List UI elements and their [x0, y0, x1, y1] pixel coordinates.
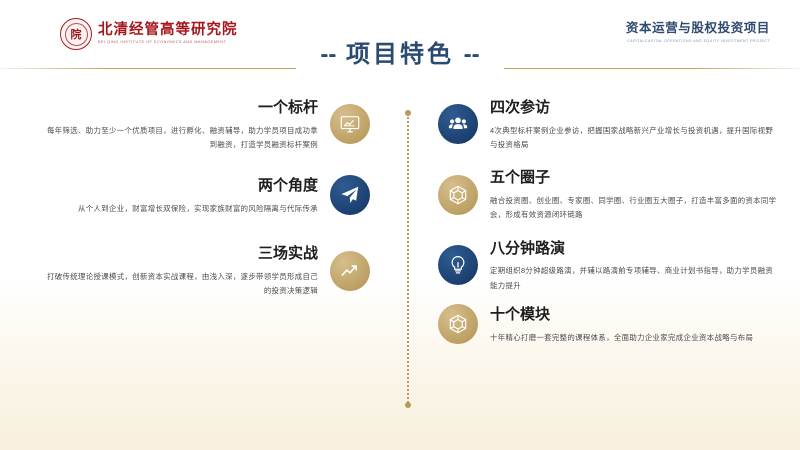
feature-heading: 八分钟路演 [490, 237, 778, 260]
feature-item: 八分钟路演 定期组织8分钟超级路演，并辅以路演前专项辅导、商业计划书指导，助力学… [438, 237, 778, 293]
center-dotted-divider [407, 113, 409, 405]
feature-text: 八分钟路演 定期组织8分钟超级路演，并辅以路演前专项辅导、商业计划书指导，助力学… [478, 237, 778, 293]
feature-column-left: 一个标杆 每年筛选、助力至少一个优质项目，进行孵化、融资辅导，助力学员项目成功拿… [40, 96, 370, 310]
title-text: 项目特色 [346, 41, 454, 68]
people-group-icon [438, 104, 478, 144]
feature-item: 一个标杆 每年筛选、助力至少一个优质项目，进行孵化、融资辅导，助力学员项目成功拿… [40, 96, 370, 152]
feature-column-right: 四次参访 4次典型标杆案例企业参访，把握国家战略新兴产业增长与投资机遇，提升国际… [438, 96, 778, 356]
slide-header: 院 北清经管高等研究院 BEI QING INSTITUTE OF ECONOM… [0, 0, 800, 70]
feature-heading: 四次参访 [490, 96, 778, 119]
page-title: -- 项目特色 -- [0, 43, 800, 67]
growth-chart-icon [330, 251, 370, 291]
feature-text: 一个标杆 每年筛选、助力至少一个优质项目，进行孵化、融资辅导，助力学员项目成功拿… [40, 96, 330, 152]
feature-text: 四次参访 4次典型标杆案例企业参访，把握国家战略新兴产业增长与投资机遇，提升国际… [478, 96, 778, 152]
title-dash-right: -- [464, 41, 480, 68]
feature-heading: 三场实战 [40, 242, 318, 265]
feature-item: 四次参访 4次典型标杆案例企业参访，把握国家战略新兴产业增长与投资机遇，提升国际… [438, 96, 778, 152]
feature-heading: 十个模块 [490, 303, 778, 326]
feature-item: 十个模块 十年精心打磨一套完整的课程体系，全面助力企业家完成企业资本战略与布局 [438, 303, 778, 345]
cube-icon [438, 304, 478, 344]
feature-body: 4次典型标杆案例企业参访，把握国家战略新兴产业增长与投资机遇，提升国际视野与投资… [490, 124, 778, 153]
project-name-cn: 资本运营与股权投资项目 [626, 20, 770, 36]
feature-text: 三场实战 打破传统理论授课模式，创新资本实战课程，由浅入深，逐步带领学员形成自己… [40, 242, 330, 298]
feature-heading: 五个圈子 [490, 166, 778, 189]
feature-heading: 两个角度 [40, 174, 318, 197]
feature-body: 每年筛选、助力至少一个优质项目，进行孵化、融资辅导，助力学员项目成功拿到融资，打… [40, 124, 318, 153]
cube-icon [438, 175, 478, 215]
header-rule-left [0, 68, 296, 69]
seal-glyph: 院 [71, 29, 82, 40]
feature-text: 十个模块 十年精心打磨一套完整的课程体系，全面助力企业家完成企业资本战略与布局 [478, 303, 778, 345]
feature-text: 两个角度 从个人到企业，财富增长双保险，实现家族财富的风险隔离与代际传承 [40, 174, 330, 216]
feature-body: 融合投资圈、创业圈、专家圈、同学圈、行业圈五大圈子，打造丰富多面的资本同学会，形… [490, 194, 778, 223]
feature-text: 五个圈子 融合投资圈、创业圈、专家圈、同学圈、行业圈五大圈子，打造丰富多面的资本… [478, 166, 778, 222]
institute-name-cn: 北清经管高等研究院 [98, 22, 238, 39]
divider-cap-bottom [405, 402, 411, 408]
monitor-chart-icon [330, 104, 370, 144]
title-dash-left: -- [320, 41, 336, 68]
feature-body: 十年精心打磨一套完整的课程体系，全面助力企业家完成企业资本战略与布局 [490, 331, 778, 345]
feature-heading: 一个标杆 [40, 96, 318, 119]
feature-item: 三场实战 打破传统理论授课模式，创新资本实战课程，由浅入深，逐步带领学员形成自己… [40, 242, 370, 298]
slide-root: 院 北清经管高等研究院 BEI QING INSTITUTE OF ECONOM… [0, 0, 800, 450]
project-title-block: 资本运营与股权投资项目 CAPITALCAPITAL OPERATIONS AN… [626, 20, 770, 44]
feature-body: 定期组织8分钟超级路演，并辅以路演前专项辅导、商业计划书指导，助力学员融资能力提… [490, 264, 778, 293]
lightbulb-icon [438, 245, 478, 285]
feature-item: 五个圈子 融合投资圈、创业圈、专家圈、同学圈、行业圈五大圈子，打造丰富多面的资本… [438, 166, 778, 222]
feature-item: 两个角度 从个人到企业，财富增长双保险，实现家族财富的风险隔离与代际传承 [40, 174, 370, 216]
paper-plane-icon [330, 175, 370, 215]
feature-body: 打破传统理论授课模式，创新资本实战课程，由浅入深，逐步带领学员形成自己的投资决策… [40, 270, 318, 299]
header-rule-right [504, 68, 800, 69]
feature-body: 从个人到企业，财富增长双保险，实现家族财富的风险隔离与代际传承 [40, 202, 318, 216]
divider-cap-top [405, 110, 411, 116]
